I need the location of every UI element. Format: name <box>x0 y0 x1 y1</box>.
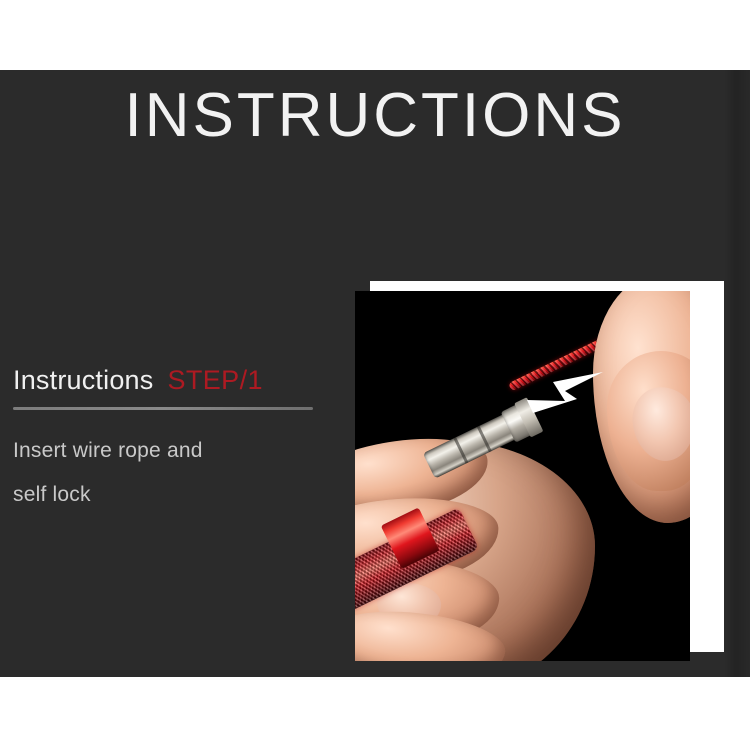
instruction-body: Insert wire rope and self lock <box>13 429 323 517</box>
instruction-heading: Instructions <box>13 365 153 396</box>
instruction-body-line-2: self lock <box>13 473 323 517</box>
step-label: STEP/1 <box>167 365 262 396</box>
instruction-heading-row: Instructions STEP/1 <box>13 365 323 396</box>
insertion-direction-arrow <box>525 372 603 414</box>
instruction-copy: Instructions STEP/1 Insert wire rope and… <box>13 365 323 517</box>
instruction-body-line-1: Insert wire rope and <box>13 429 323 473</box>
band-edge-sheen <box>724 70 750 677</box>
product-photo <box>355 291 690 661</box>
page-title: INSTRUCTIONS <box>0 85 750 147</box>
instruction-page: INSTRUCTIONS Instructions STEP/1 Insert … <box>0 0 750 750</box>
heading-divider <box>13 407 313 410</box>
